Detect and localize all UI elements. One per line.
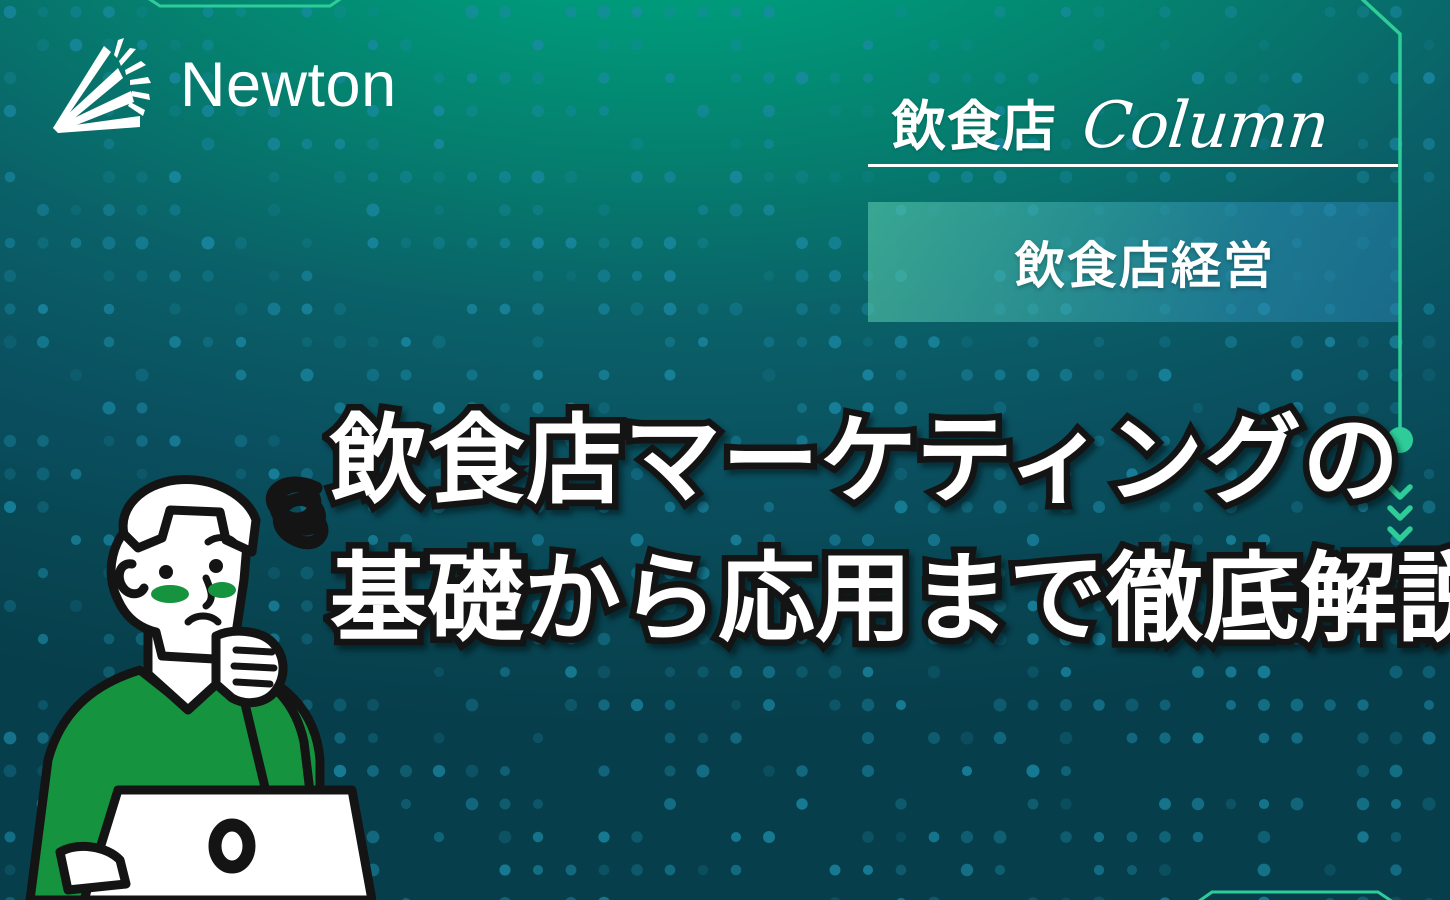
brand-name: Newton [180, 54, 397, 117]
circuit-line-top-left [120, 0, 368, 6]
eye-right [209, 559, 223, 573]
column-banner: Newton 飲食店 Column 飲食店経営 飲食店マーケティングの 基礎から… [0, 0, 1450, 900]
confusion-scribble-icon [272, 483, 322, 543]
column-header-jp: 飲食店 [892, 99, 1057, 156]
thinking-person-with-laptop-illustration [20, 460, 440, 900]
brand-logo[interactable]: Newton [48, 28, 397, 138]
title-line-2: 基礎から応用まで徹底解説！ [330, 530, 1350, 668]
circuit-line-bottom [1172, 892, 1420, 900]
page-title: 飲食店マーケティングの 基礎から応用まで徹底解説！ [330, 392, 1350, 667]
lower-hand [60, 846, 126, 890]
title-line-1: 飲食店マーケティングの [330, 392, 1350, 530]
newton-fan-burst-icon [48, 28, 168, 138]
column-header: 飲食店 Column [868, 92, 1398, 167]
column-header-en: Column [1079, 94, 1331, 158]
eye-left [159, 565, 173, 579]
category-badge-label: 飲食店経営 [1015, 226, 1275, 298]
category-badge[interactable]: 飲食店経営 [868, 202, 1398, 322]
column-header-rule [868, 164, 1398, 167]
